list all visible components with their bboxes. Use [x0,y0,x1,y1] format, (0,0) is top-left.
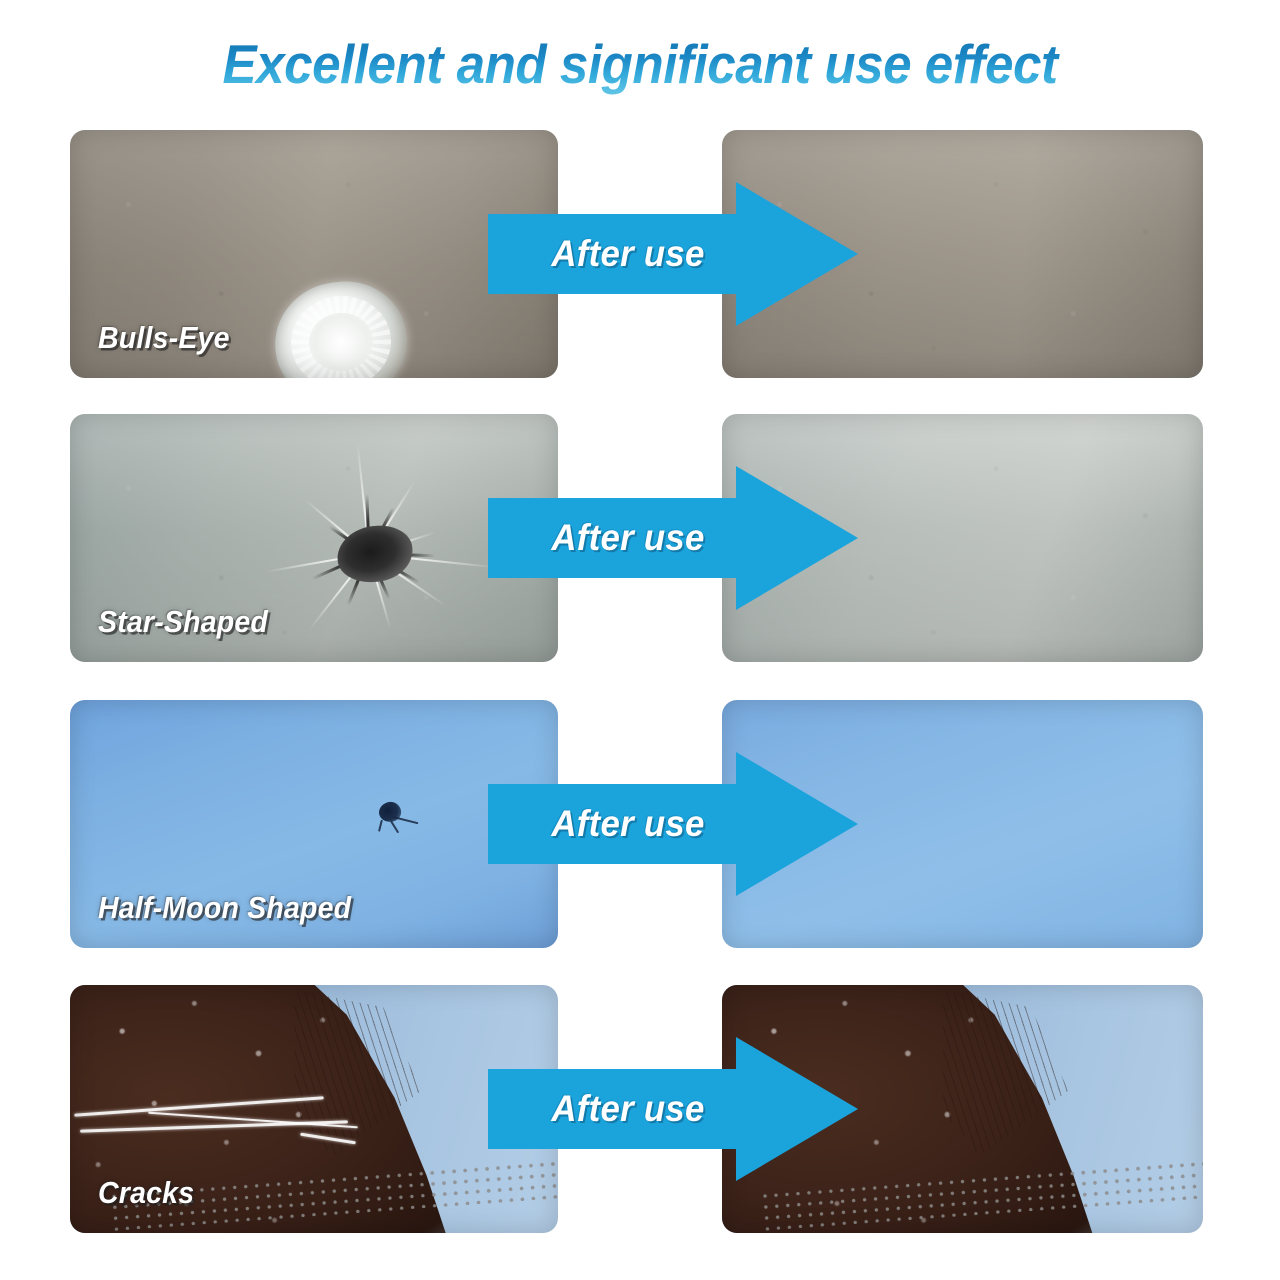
arrow-right-icon [483,1033,863,1185]
comparison-row-cracks: Cracks After use [0,985,1280,1233]
star-shaped-crack-damage [265,474,505,634]
comparison-row-star-shaped: Star-Shaped After use [0,414,1280,662]
infographic-canvas: Excellent and significant use effect Bul… [0,0,1280,1280]
arrow-right-icon [483,462,863,614]
half-moon-chip-damage [375,800,409,830]
panel-caption: Star-Shaped [98,604,268,640]
after-use-arrow: After use [483,178,863,330]
panel-caption: Bulls-Eye [98,320,230,356]
arrow-right-icon [483,748,863,900]
comparison-row-bulls-eye: Bulls-Eye After use [0,130,1280,378]
after-use-arrow: After use [483,462,863,614]
page-title: Excellent and significant use effect [45,32,1235,96]
arrow-right-icon [483,178,863,330]
panel-caption: Cracks [98,1175,194,1211]
panel-caption: Half-Moon Shaped [98,890,351,926]
after-use-arrow: After use [483,748,863,900]
comparison-row-half-moon-shaped: Half-Moon Shaped After use [0,700,1280,948]
after-use-arrow: After use [483,1033,863,1185]
